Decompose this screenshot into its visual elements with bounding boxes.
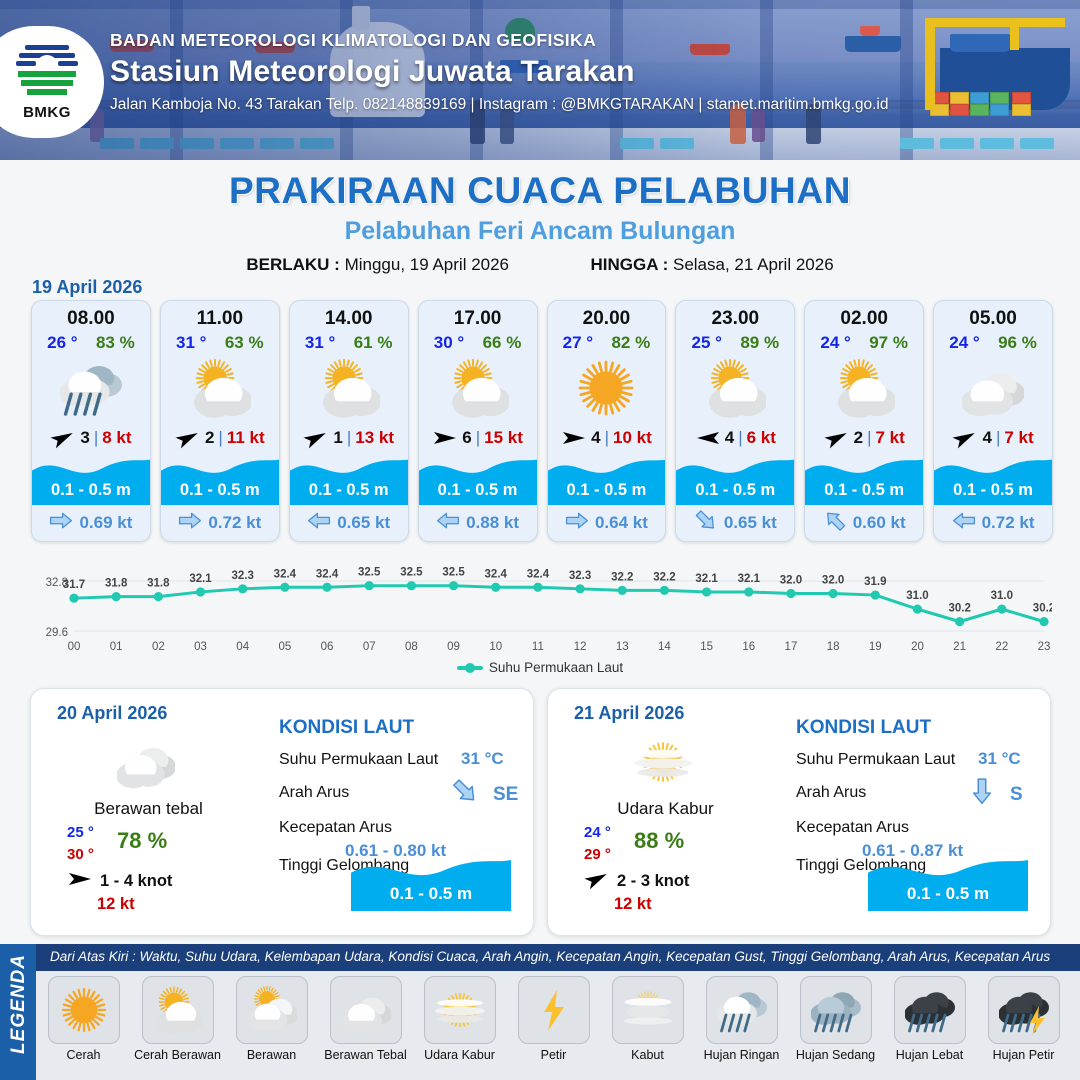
wave-height: 0.1 - 0.5 m — [32, 481, 150, 500]
card-values: 31 ° 63 % — [161, 331, 279, 353]
wave-section: 0.1 - 0.5 m — [548, 453, 666, 505]
svg-text:21: 21 — [953, 641, 966, 653]
bmkg-logo-mark — [16, 43, 78, 103]
wave-height: 0.1 - 0.5 m — [419, 481, 537, 500]
gust-speed: 7 kt — [875, 428, 904, 448]
daily-forecast-row: 20 April 2026 Berawan tebal 25 ° 30 ° 78… — [30, 688, 1052, 936]
sun-icon — [548, 353, 666, 423]
current-direction-icon — [307, 511, 331, 535]
svg-text:16: 16 — [742, 641, 755, 653]
day-date: 20 April 2026 — [57, 703, 167, 724]
wave-section: 0.1 - 0.5 m — [32, 453, 150, 505]
current-direction-icon — [952, 511, 976, 535]
svg-text:32.2: 32.2 — [611, 571, 633, 583]
cloud-icon — [934, 353, 1052, 423]
gust-speed: 7 kt — [1004, 428, 1033, 448]
card-current: 0.60 kt — [805, 505, 923, 541]
card-temperature: 31 ° — [176, 333, 206, 353]
legend-item: Hujan Ringan — [698, 976, 785, 1062]
sea-row-label: Suhu Permukaan Laut — [279, 751, 438, 769]
current-speed: 0.88 kt — [466, 513, 519, 533]
day-condition: Berawan tebal — [31, 799, 266, 819]
moderate-rain-icon — [800, 976, 872, 1044]
svg-text:31.7: 31.7 — [63, 579, 85, 591]
heavy-rain-icon — [894, 976, 966, 1044]
sea-conditions-title: KONDISI LAUT — [279, 717, 414, 739]
sea-conditions-title: KONDISI LAUT — [796, 717, 931, 739]
wind-direction-icon — [561, 428, 587, 448]
svg-text:32.5: 32.5 — [358, 567, 381, 579]
card-time: 20.00 — [548, 301, 666, 331]
wind-speed: 2 — [205, 428, 214, 448]
card-time: 11.00 — [161, 301, 279, 331]
gust-speed: 11 kt — [227, 428, 265, 448]
sun-cloud-icon — [419, 353, 537, 423]
current-direction-icon — [436, 511, 460, 535]
legend-item: Berawan — [228, 976, 315, 1062]
current-direction-value: S — [1010, 784, 1023, 806]
card-wind: 4 | 7 kt — [934, 423, 1052, 453]
wind-direction-icon — [303, 428, 329, 448]
hourly-forecast-row: 08.00 26 ° 83 % 3 | 8 kt 0.1 - 0.5 m 0.6… — [31, 300, 1053, 542]
legend-item: Berawan Tebal — [322, 976, 409, 1062]
current-direction-icon — [178, 511, 202, 535]
card-wind: 4 | 6 kt — [676, 423, 794, 453]
card-temperature: 24 ° — [949, 333, 979, 353]
svg-text:32.0: 32.0 — [822, 575, 844, 587]
card-current: 0.72 kt — [161, 505, 279, 541]
gust-speed: 10 kt — [613, 428, 652, 448]
legend-item-label: Cerah Berawan — [134, 1048, 221, 1062]
svg-text:17: 17 — [785, 641, 798, 653]
legend-item-label: Hujan Petir — [980, 1048, 1067, 1062]
header-banner: BMKG BADAN METEOROLOGI KLIMATOLOGI DAN G… — [0, 0, 1080, 160]
wave-section: 0.1 - 0.5 m — [934, 453, 1052, 505]
svg-text:23: 23 — [1038, 641, 1051, 653]
gust-speed: 6 kt — [747, 428, 776, 448]
current-speed: 0.69 kt — [79, 513, 132, 533]
chart-legend: Suhu Permukaan Laut — [0, 660, 1080, 675]
agency-name: BADAN METEOROLOGI KLIMATOLOGI DAN GEOFIS… — [110, 30, 889, 51]
card-humidity: 82 % — [611, 333, 650, 353]
wind-direction-icon — [952, 428, 978, 448]
day-temp-min: 24 ° — [584, 824, 611, 841]
hour-card: 14.00 31 ° 61 % 1 | 13 kt 0.1 - 0.5 m 0.… — [289, 300, 409, 542]
svg-text:02: 02 — [152, 641, 165, 653]
card-wind: 2 | 11 kt — [161, 423, 279, 453]
day-humidity: 78 % — [117, 828, 167, 854]
day-wave-height: 0.1 - 0.5 m — [351, 884, 511, 904]
svg-text:07: 07 — [363, 641, 376, 653]
legend-item: Petir — [510, 976, 597, 1062]
day-temps: 25 ° 30 ° — [67, 824, 94, 863]
svg-text:30.2: 30.2 — [948, 603, 970, 615]
svg-text:32.4: 32.4 — [527, 568, 550, 580]
svg-text:03: 03 — [194, 641, 207, 653]
day-condition: Udara Kabur — [548, 799, 783, 819]
svg-text:31.9: 31.9 — [864, 576, 886, 588]
sea-temperature-value: 31 °C — [978, 749, 1021, 769]
wave-height: 0.1 - 0.5 m — [161, 481, 279, 500]
sea-temperature-value: 31 °C — [461, 749, 504, 769]
cloud-icon — [91, 731, 201, 793]
svg-text:04: 04 — [236, 641, 249, 653]
svg-text:29.6: 29.6 — [46, 627, 68, 639]
svg-text:00: 00 — [68, 641, 81, 653]
card-time: 08.00 — [32, 301, 150, 331]
day-wave: 0.1 - 0.5 m — [351, 853, 511, 911]
day-wind: 1 - 4 knot — [67, 869, 172, 894]
legend-item-label: Berawan Tebal — [322, 1048, 409, 1062]
card-current: 0.72 kt — [934, 505, 1052, 541]
legend-label: Suhu Permukaan Laut — [489, 660, 623, 675]
day-wind: 2 - 3 knot — [584, 869, 689, 894]
hour-card: 02.00 24 ° 97 % 2 | 7 kt 0.1 - 0.5 m 0.6… — [804, 300, 924, 542]
card-time: 17.00 — [419, 301, 537, 331]
current-direction-icon — [565, 511, 589, 535]
wave-height: 0.1 - 0.5 m — [290, 481, 408, 500]
current-speed: 0.64 kt — [595, 513, 648, 533]
svg-text:31.0: 31.0 — [991, 590, 1013, 602]
card-values: 24 ° 97 % — [805, 331, 923, 353]
card-time: 02.00 — [805, 301, 923, 331]
card-humidity: 96 % — [998, 333, 1037, 353]
card-wind: 4 | 10 kt — [548, 423, 666, 453]
wave-section: 0.1 - 0.5 m — [676, 453, 794, 505]
bmkg-logo-text: BMKG — [23, 104, 71, 121]
separator: | — [476, 428, 480, 448]
clouds-icon — [330, 976, 402, 1044]
sun-icon — [48, 976, 120, 1044]
day-wave: 0.1 - 0.5 m — [868, 853, 1028, 911]
svg-text:12: 12 — [574, 641, 587, 653]
day-temp-min: 25 ° — [67, 824, 94, 841]
hour-card: 20.00 27 ° 82 % 4 | 10 kt 0.1 - 0.5 m 0.… — [547, 300, 667, 542]
legend-strip: LEGENDA — [0, 944, 36, 1080]
sun-cloud-icon — [161, 353, 279, 423]
wind-speed: 4 — [725, 428, 734, 448]
card-values: 25 ° 89 % — [676, 331, 794, 353]
separator: | — [738, 428, 742, 448]
legend-note-bar: Dari Atas Kiri : Waktu, Suhu Udara, Kele… — [36, 944, 1080, 971]
gust-speed: 13 kt — [355, 428, 394, 448]
rain-cloud-icon — [32, 353, 150, 423]
wind-speed: 3 — [80, 428, 89, 448]
legend-item-label: Hujan Lebat — [886, 1048, 973, 1062]
wind-speed: 1 — [333, 428, 342, 448]
wave-height: 0.1 - 0.5 m — [548, 481, 666, 500]
day-card: 21 April 2026 Udara Kabur 24 ° 29 ° 88 %… — [547, 688, 1051, 936]
legend-item: Hujan Petir — [980, 976, 1067, 1062]
card-humidity: 97 % — [869, 333, 908, 353]
wind-speed: 4 — [982, 428, 991, 448]
separator: | — [94, 428, 98, 448]
sea-row-label: Suhu Permukaan Laut — [796, 751, 955, 769]
light-rain-icon — [706, 976, 778, 1044]
sun-cloud-icon — [142, 976, 214, 1044]
card-humidity: 61 % — [354, 333, 393, 353]
legend-note: Dari Atas Kiri : Waktu, Suhu Udara, Kele… — [50, 949, 1050, 964]
wave-section: 0.1 - 0.5 m — [290, 453, 408, 505]
wind-direction-icon — [824, 428, 850, 448]
card-time: 14.00 — [290, 301, 408, 331]
wave-section: 0.1 - 0.5 m — [419, 453, 537, 505]
wind-direction-icon — [695, 428, 721, 448]
current-speed: 0.72 kt — [982, 513, 1035, 533]
header-text-block: BADAN METEOROLOGI KLIMATOLOGI DAN GEOFIS… — [110, 30, 889, 114]
svg-text:30.2: 30.2 — [1033, 603, 1052, 615]
legend-item-label: Berawan — [228, 1048, 315, 1062]
svg-text:11: 11 — [532, 641, 544, 653]
valid-from-value: Minggu, 19 April 2026 — [345, 255, 509, 274]
day-temp-max: 29 ° — [584, 846, 611, 863]
svg-text:32.1: 32.1 — [189, 573, 212, 585]
legend-item-label: Udara Kabur — [416, 1048, 503, 1062]
current-speed: 0.60 kt — [853, 513, 906, 533]
legend-item: Hujan Sedang — [792, 976, 879, 1062]
hour-card: 17.00 30 ° 66 % 6 | 15 kt 0.1 - 0.5 m 0.… — [418, 300, 538, 542]
sun-cloud-icon — [805, 353, 923, 423]
separator: | — [218, 428, 222, 448]
legend-vertical-label: LEGENDA — [8, 945, 30, 1063]
svg-text:06: 06 — [321, 641, 334, 653]
day-wind-range: 2 - 3 knot — [617, 872, 689, 891]
card-current: 0.64 kt — [548, 505, 666, 541]
current-direction-icon — [694, 511, 718, 535]
card-wind: 6 | 15 kt — [419, 423, 537, 453]
gust-speed: 15 kt — [484, 428, 523, 448]
svg-text:32.4: 32.4 — [485, 568, 508, 580]
svg-text:10: 10 — [489, 641, 502, 653]
valid-until-value: Selasa, 21 April 2026 — [673, 255, 834, 274]
haze-icon — [608, 731, 718, 793]
card-values: 26 ° 83 % — [32, 331, 150, 353]
valid-until-label: HINGGA : — [590, 255, 668, 274]
svg-text:32.3: 32.3 — [569, 570, 591, 582]
card-time: 05.00 — [934, 301, 1052, 331]
day-humidity: 88 % — [634, 828, 684, 854]
validity-row: BERLAKU : Minggu, 19 April 2026 HINGGA :… — [0, 255, 1080, 275]
card-values: 27 ° 82 % — [548, 331, 666, 353]
hour-card: 05.00 24 ° 96 % 4 | 7 kt 0.1 - 0.5 m 0.7… — [933, 300, 1053, 542]
svg-text:09: 09 — [447, 641, 460, 653]
svg-text:31.8: 31.8 — [105, 578, 128, 590]
sun-cloud-icon — [290, 353, 408, 423]
legend-item-label: Hujan Sedang — [792, 1048, 879, 1062]
current-speed: 0.65 kt — [337, 513, 390, 533]
day-card: 20 April 2026 Berawan tebal 25 ° 30 ° 78… — [30, 688, 534, 936]
sea-row-label: Arah Arus — [279, 784, 349, 802]
svg-text:31.8: 31.8 — [147, 578, 170, 590]
card-temperature: 25 ° — [692, 333, 722, 353]
svg-text:32.1: 32.1 — [695, 573, 718, 585]
svg-text:08: 08 — [405, 641, 418, 653]
gust-speed: 8 kt — [102, 428, 131, 448]
legend-item: Kabut — [604, 976, 691, 1062]
card-values: 24 ° 96 % — [934, 331, 1052, 353]
current-direction-icon — [823, 511, 847, 535]
card-wind: 3 | 8 kt — [32, 423, 150, 453]
page-subtitle: Pelabuhan Feri Ancam Bulungan — [0, 217, 1080, 246]
day-gust: 12 kt — [97, 895, 135, 914]
svg-text:32.4: 32.4 — [316, 568, 339, 580]
legend-item: Cerah — [40, 976, 127, 1062]
card-current: 0.88 kt — [419, 505, 537, 541]
sun-cloud-icon — [676, 353, 794, 423]
card-humidity: 83 % — [96, 333, 135, 353]
lightning-icon — [518, 976, 590, 1044]
svg-text:01: 01 — [110, 641, 123, 653]
legend-item-label: Cerah — [40, 1048, 127, 1062]
current-speed: 0.72 kt — [208, 513, 261, 533]
current-direction-icon — [49, 511, 73, 535]
card-temperature: 27 ° — [563, 333, 593, 353]
svg-text:32.4: 32.4 — [274, 568, 297, 580]
svg-text:18: 18 — [827, 641, 840, 653]
svg-text:31.0: 31.0 — [906, 590, 928, 602]
wind-direction-icon — [50, 428, 76, 448]
separator: | — [605, 428, 609, 448]
haze-icon — [424, 976, 496, 1044]
card-temperature: 24 ° — [820, 333, 850, 353]
legend-item-label: Kabut — [604, 1048, 691, 1062]
separator: | — [867, 428, 871, 448]
current-direction-icon — [451, 780, 479, 807]
svg-text:32.5: 32.5 — [442, 567, 465, 579]
day-wave-height: 0.1 - 0.5 m — [868, 884, 1028, 904]
separator: | — [996, 428, 1000, 448]
svg-text:32.0: 32.0 — [780, 575, 802, 587]
card-temperature: 26 ° — [47, 333, 77, 353]
sea-row-label: Kecepatan Arus — [279, 819, 392, 837]
svg-text:13: 13 — [616, 641, 629, 653]
card-current: 0.69 kt — [32, 505, 150, 541]
legend-item: Udara Kabur — [416, 976, 503, 1062]
legend-item-label: Hujan Ringan — [698, 1048, 785, 1062]
legend-item-label: Petir — [510, 1048, 597, 1062]
card-humidity: 66 % — [483, 333, 522, 353]
sun-clouds-icon — [236, 976, 308, 1044]
svg-text:14: 14 — [658, 641, 671, 653]
separator: | — [347, 428, 351, 448]
svg-text:32.5: 32.5 — [400, 567, 423, 579]
forecast-date: 19 April 2026 — [32, 277, 142, 298]
card-humidity: 89 % — [740, 333, 779, 353]
svg-text:32.1: 32.1 — [738, 573, 761, 585]
hour-card: 23.00 25 ° 89 % 4 | 6 kt 0.1 - 0.5 m 0.6… — [675, 300, 795, 542]
svg-text:32.3: 32.3 — [232, 570, 254, 582]
card-current: 0.65 kt — [676, 505, 794, 541]
svg-text:32.2: 32.2 — [653, 571, 675, 583]
valid-from-label: BERLAKU : — [246, 255, 340, 274]
station-name: Stasiun Meteorologi Juwata Tarakan — [110, 55, 889, 89]
wind-direction-icon — [67, 869, 93, 894]
wave-height: 0.1 - 0.5 m — [676, 481, 794, 500]
legend-item: Hujan Lebat — [886, 976, 973, 1062]
card-wind: 2 | 7 kt — [805, 423, 923, 453]
wind-direction-icon — [584, 869, 610, 894]
wave-height: 0.1 - 0.5 m — [934, 481, 1052, 500]
svg-text:05: 05 — [278, 641, 291, 653]
wave-height: 0.1 - 0.5 m — [805, 481, 923, 500]
fog-icon — [612, 976, 684, 1044]
hour-card: 08.00 26 ° 83 % 3 | 8 kt 0.1 - 0.5 m 0.6… — [31, 300, 151, 542]
card-temperature: 31 ° — [305, 333, 335, 353]
wind-speed: 2 — [854, 428, 863, 448]
contact-info: Jalan Kamboja No. 43 Tarakan Telp. 08214… — [110, 96, 889, 114]
wind-direction-icon — [432, 428, 458, 448]
day-gust: 12 kt — [614, 895, 652, 914]
sea-row-label: Arah Arus — [796, 784, 866, 802]
card-humidity: 63 % — [225, 333, 264, 353]
day-wind-range: 1 - 4 knot — [100, 872, 172, 891]
sea-row-label: Kecepatan Arus — [796, 819, 909, 837]
current-direction-value: SE — [493, 784, 518, 806]
hour-card: 11.00 31 ° 63 % 2 | 11 kt 0.1 - 0.5 m 0.… — [160, 300, 280, 542]
legend-marker-icon — [457, 666, 483, 670]
thunderstorm-icon — [988, 976, 1060, 1044]
svg-text:20: 20 — [911, 641, 924, 653]
card-values: 31 ° 61 % — [290, 331, 408, 353]
card-wind: 1 | 13 kt — [290, 423, 408, 453]
page-title: PRAKIRAAN CUACA PELABUHAN — [0, 170, 1080, 212]
current-speed: 0.65 kt — [724, 513, 777, 533]
wind-speed: 6 — [462, 428, 471, 448]
wave-section: 0.1 - 0.5 m — [805, 453, 923, 505]
legend-item: Cerah Berawan — [134, 976, 221, 1062]
legend-items: Cerah Cerah Berawan Berawan Berawan Teba… — [40, 976, 1076, 1062]
wind-direction-icon — [175, 428, 201, 448]
svg-text:22: 22 — [995, 641, 1008, 653]
svg-text:15: 15 — [700, 641, 713, 653]
wind-speed: 4 — [591, 428, 600, 448]
svg-text:19: 19 — [869, 641, 882, 653]
wave-section: 0.1 - 0.5 m — [161, 453, 279, 505]
card-temperature: 30 ° — [434, 333, 464, 353]
current-direction-icon — [968, 780, 996, 807]
legend-section: LEGENDA Dari Atas Kiri : Waktu, Suhu Uda… — [0, 944, 1080, 1080]
day-date: 21 April 2026 — [574, 703, 684, 724]
day-temps: 24 ° 29 ° — [584, 824, 611, 863]
card-values: 30 ° 66 % — [419, 331, 537, 353]
day-temp-max: 30 ° — [67, 846, 94, 863]
title-block: PRAKIRAAN CUACA PELABUHAN Pelabuhan Feri… — [0, 170, 1080, 275]
card-current: 0.65 kt — [290, 505, 408, 541]
card-time: 23.00 — [676, 301, 794, 331]
